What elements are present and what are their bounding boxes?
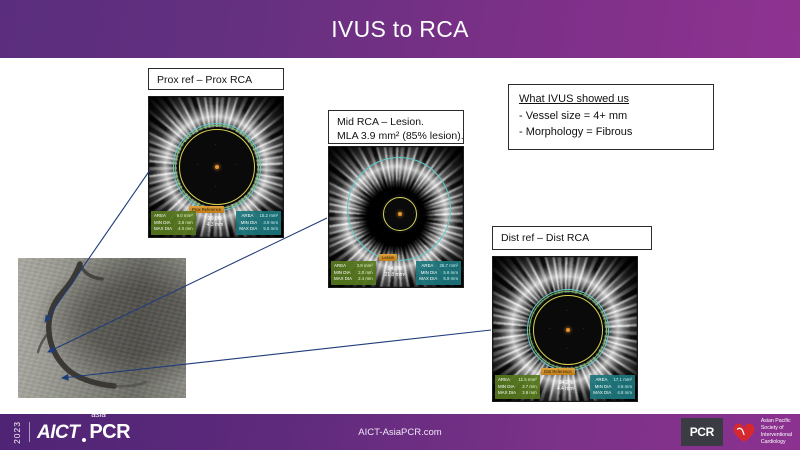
readout-label: MAX DIA — [239, 226, 257, 231]
ivus-badge: Lesion — [379, 254, 397, 261]
readout-value: 2.4 mm — [358, 276, 373, 283]
caption-mid-line2: MLA 3.9 mm² (85% lesion). — [337, 130, 464, 142]
ivus-readout-right: AREA25.7 mm² MIN DIA5.6 mm MAX DIA5.9 mm — [416, 261, 461, 285]
caption-mid-lesion: Mid RCA – Lesion. MLA 3.9 mm² (85% lesio… — [328, 110, 464, 144]
ivus-readout-left: AREA3.9 mm² MIN DIA2.0 mm MAX DIA2.4 mm — [331, 261, 376, 285]
readout-value: 3.6 mm — [178, 220, 193, 227]
readout-label: AREA — [421, 263, 433, 268]
ivus-catheter-marker — [566, 328, 570, 332]
readout-label: AREA — [241, 213, 253, 218]
readout-value: 4.6 mm — [617, 384, 632, 391]
readout-label: AREA — [154, 213, 166, 218]
readout-value: 3.9 mm — [522, 390, 537, 397]
info-bullet-vessel-size: - Vessel size = 4+ mm — [519, 108, 703, 125]
readout-value: 5.6 mm — [443, 270, 458, 277]
readout-label: MAX DIA — [593, 390, 611, 395]
caption-prox-ref: Prox ref – Prox RCA — [148, 68, 284, 90]
readout-label: MAX DIA — [154, 226, 172, 231]
readout-value: 3.7 mm — [522, 384, 537, 391]
ivus-center-readout: 34.2% 4.4 mm² — [533, 380, 599, 394]
slide-canvas: IVUS to RCA · · · · Prox Reference 26.0%… — [0, 0, 800, 450]
readout-label: MAX DIA — [334, 276, 352, 281]
caption-mid-line1: Mid RCA – Lesion. — [337, 116, 424, 128]
readout-value: 3.9 mm² — [357, 263, 373, 270]
ivus-center-value: 4.3 mm — [207, 222, 224, 228]
society-line-4: Cardiology — [761, 439, 792, 446]
ivus-readout-left: AREA11.5 mm² MIN DIA3.7 mm MAX DIA3.9 mm — [495, 375, 540, 399]
ivus-catheter-marker — [215, 165, 219, 169]
slide-title-bar: IVUS to RCA — [0, 0, 800, 58]
info-bullet-morphology: - Morphology = Fibrous — [519, 124, 703, 141]
angiogram-vessel-tree — [18, 258, 186, 398]
readout-label: MIN DIA — [241, 220, 258, 225]
ivus-center-percent: 84.3% — [388, 266, 402, 272]
readout-label: MIN DIA — [421, 270, 438, 275]
readout-label: AREA — [498, 377, 510, 382]
info-heading: What IVUS showed us — [519, 91, 703, 108]
readout-label: MAX DIA — [419, 276, 437, 281]
readout-value: 3.9 mm — [263, 220, 278, 227]
footer-logo-dot-icon — [82, 438, 86, 442]
readout-value: 11.5 mm² — [518, 377, 536, 384]
page-title: IVUS to RCA — [331, 16, 469, 43]
ivus-frame-mid-lesion: · · · · Lesion 84.3% 21.8 mm² AREA3.9 mm… — [328, 146, 464, 288]
readout-value: 17.1 mm² — [613, 377, 632, 384]
readout-label: MIN DIA — [498, 384, 515, 389]
what-ivus-showed-box: What IVUS showed us - Vessel size = 4+ m… — [508, 84, 714, 150]
caption-dist-ref: Dist ref – Dist RCA — [492, 226, 652, 250]
ivus-badge: Dist Reference — [541, 368, 575, 375]
footer-logo-asia-text: asia — [91, 410, 106, 419]
society-line-1: Asian Pacific — [761, 418, 792, 425]
readout-label: AREA — [595, 377, 607, 382]
readout-value: 4.0 mm — [178, 226, 193, 233]
readout-value: 25.7 mm² — [439, 263, 458, 270]
readout-value: 4.8 mm — [617, 390, 632, 397]
readout-label: MAX DIA — [498, 390, 516, 395]
ivus-readout-left: AREA9.0 mm² MIN DIA3.6 mm MAX DIA4.0 mm — [151, 211, 196, 235]
readout-label: AREA — [334, 263, 346, 268]
ivus-readout-right: AREA15.2 mm² MIN DIA3.9 mm MAX DIA5.5 mm — [236, 211, 281, 235]
ivus-catheter-marker — [398, 212, 402, 216]
readout-label: MIN DIA — [595, 384, 612, 389]
ivus-frame-prox-ref: · · · · Prox Reference 26.0% 4.3 mm AREA… — [148, 96, 284, 238]
ivus-center-percent: 34.2% — [559, 380, 573, 386]
readout-label: MIN DIA — [154, 220, 171, 225]
readout-value: 2.0 mm — [358, 270, 373, 277]
readout-value: 9.0 mm² — [177, 213, 193, 220]
readout-label: MIN DIA — [334, 270, 351, 275]
ivus-readout-right: AREA17.1 mm² MIN DIA4.6 mm MAX DIA4.8 mm — [590, 375, 635, 399]
readout-value: 5.5 mm — [263, 226, 278, 233]
readout-value: 15.2 mm² — [259, 213, 278, 220]
readout-value: 5.9 mm — [443, 276, 458, 283]
ivus-center-value: 21.8 mm² — [384, 272, 405, 278]
ivus-center-value: 4.4 mm² — [557, 386, 575, 392]
slide-footer: 2023 AICT asia PCR AICT-AsiaPCR.com PCR … — [0, 414, 800, 450]
ivus-center-percent: 26.0% — [208, 216, 222, 222]
angiogram-image — [18, 258, 186, 398]
footer-url[interactable]: AICT-AsiaPCR.com — [0, 427, 800, 438]
ivus-frame-dist-ref: · · · · Dist Reference 34.2% 4.4 mm² ARE… — [492, 256, 638, 402]
